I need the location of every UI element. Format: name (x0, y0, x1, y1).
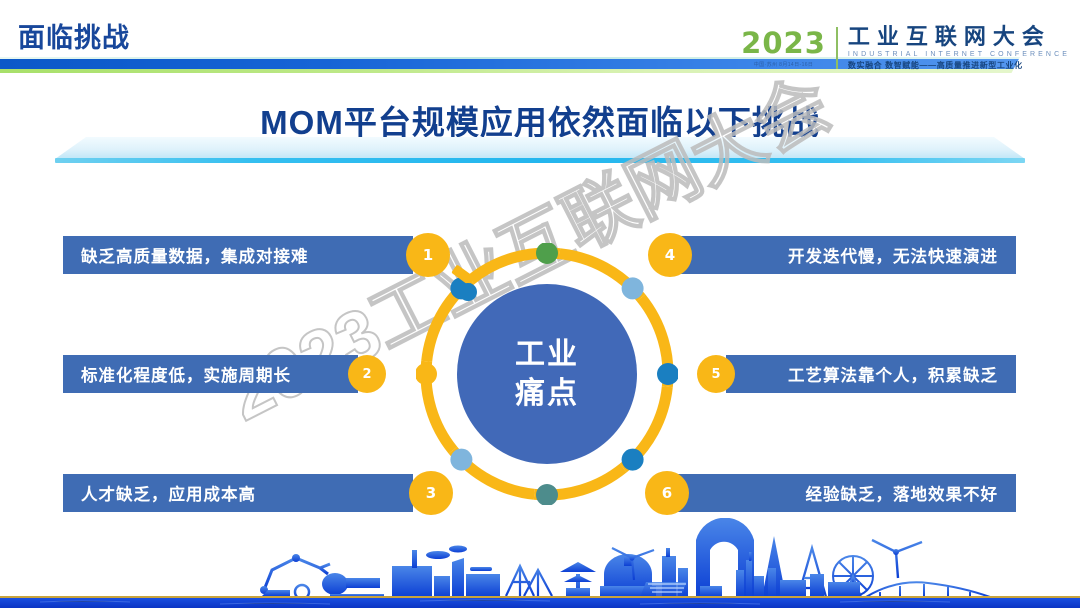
center-ring-diagram: 工业 痛点 (416, 243, 678, 505)
logo-year-block: 2023 中国·苏州 8月14日-16日 (741, 29, 836, 68)
ring-dot-yellow-left (416, 363, 437, 385)
gate-of-the-orient-icon (696, 518, 754, 597)
challenge-number-4[interactable]: 4 (648, 233, 692, 277)
logo-tagline: 数实融合 数智赋能——高质量推进新型工业化 (848, 60, 1070, 71)
challenge-number-3-text: 3 (426, 484, 436, 502)
challenge-item-6[interactable]: 经验缺乏，落地效果不好 (666, 474, 1016, 512)
challenge-item-4[interactable]: 开发迭代慢，无法快速演进 (666, 236, 1016, 274)
challenge-item-4-label: 开发迭代慢，无法快速演进 (788, 243, 998, 267)
conference-logo: 2023 中国·苏州 8月14日-16日 工业互联网大会 INDUSTRIAL … (741, 22, 1070, 74)
water-band (0, 598, 1080, 608)
challenge-number-4-text: 4 (665, 246, 675, 264)
connector-dot-icon (459, 283, 477, 301)
challenge-item-5-label: 工艺算法靠个人，积累缺乏 (788, 362, 998, 386)
challenge-item-3-label: 人才缺乏，应用成本高 (81, 481, 256, 505)
challenge-number-5-text: 5 (711, 367, 720, 382)
core-line-1: 工业 (515, 335, 579, 374)
ring-dot-lightblue-upper-right (622, 277, 644, 299)
challenge-number-6-text: 6 (662, 484, 672, 502)
logo-year: 2023 (741, 29, 826, 58)
page-title: 面临挑战 (18, 16, 130, 55)
challenge-number-2[interactable]: 2 (348, 355, 386, 393)
bridge-icon (866, 582, 990, 597)
challenge-number-1[interactable]: 1 (406, 233, 450, 277)
challenge-number-5[interactable]: 5 (697, 355, 735, 393)
tank-icon (322, 573, 384, 597)
ring-dot-teal-bottom (536, 484, 558, 505)
challenge-item-5[interactable]: 工艺算法靠个人，积累缺乏 (726, 355, 1016, 393)
factory-icon (392, 546, 500, 598)
challenge-item-1-label: 缺乏高质量数据，集成对接难 (81, 243, 309, 267)
ring-dot-green (536, 243, 558, 264)
wind-turbine-icon-1 (872, 540, 922, 597)
ring-dot-lightblue-lower-left (450, 449, 472, 471)
ring-dot-blue-right (657, 363, 678, 385)
logo-year-subtitle: 中国·苏州 8月14日-16日 (741, 61, 826, 68)
challenge-item-3[interactable]: 人才缺乏，应用成本高 (63, 474, 413, 512)
logo-name-block: 工业互联网大会 INDUSTRIAL INTERNET CONFERENCE 数… (838, 25, 1070, 70)
pagoda-icon (560, 562, 596, 597)
shelf-top-face (55, 137, 1025, 159)
mountain-crane-icon (506, 566, 552, 596)
challenge-item-1[interactable]: 缺乏高质量数据，集成对接难 (63, 236, 413, 274)
core-line-2: 痛点 (515, 374, 579, 413)
logo-name-cn: 工业互联网大会 (848, 25, 1070, 48)
ring-dot-blue-lower-right (622, 449, 644, 471)
challenge-number-3[interactable]: 3 (409, 471, 453, 515)
challenge-number-1-text: 1 (423, 246, 433, 264)
ground-line (0, 596, 1080, 598)
challenge-item-2[interactable]: 标准化程度低，实施周期长 (63, 355, 358, 393)
logo-name-en: INDUSTRIAL INTERNET CONFERENCE (848, 51, 1070, 58)
challenge-number-6[interactable]: 6 (645, 471, 689, 515)
shelf-front-edge (55, 158, 1025, 163)
challenge-item-6-label: 经验缺乏，落地效果不好 (806, 481, 999, 505)
center-core-circle: 工业 痛点 (457, 284, 637, 464)
challenge-number-2-text: 2 (362, 367, 371, 382)
slide-canvas: 面临挑战 2023 中国·苏州 8月14日-16日 工业互联网大会 INDUST… (0, 0, 1080, 608)
platform-shelf-graphic (55, 137, 1025, 165)
footer-skyline-graphic (0, 518, 1080, 608)
challenge-item-2-label: 标准化程度低，实施周期长 (81, 362, 291, 386)
